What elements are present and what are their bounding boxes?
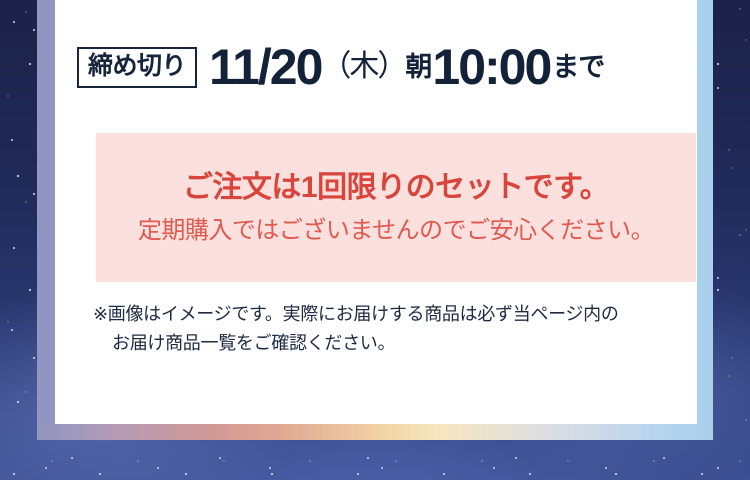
content-card: 締め切り 11/20 （木） 朝 10:00 まで ご注文は1回限りのセットです… [55, 0, 697, 424]
card-bottom-gradient-border [37, 424, 713, 440]
deadline-morning-label: 朝 [405, 54, 431, 81]
notice-subtext: 定期購入ではございませんのでご安心ください。 [138, 219, 654, 243]
deadline-date: 11/20 [209, 42, 321, 92]
promo-banner: 締め切り 11/20 （木） 朝 10:00 まで ご注文は1回限りのセットです… [0, 0, 750, 480]
deadline-tag-label: 締め切り [77, 47, 197, 88]
card-left-accent-border [37, 0, 55, 440]
image-disclaimer-note: ※画像はイメージです。実際にお届けする商品は必ず当ページ内の お届け商品一覧をご… [93, 300, 703, 358]
content-card-wrapper: 締め切り 11/20 （木） 朝 10:00 まで ご注文は1回限りのセットです… [37, 0, 713, 440]
card-right-accent-border [697, 0, 713, 440]
deadline-time: 10:00 [432, 42, 550, 92]
deadline-weekday: （木） [321, 52, 405, 82]
disclaimer-line-1: ※画像はイメージです。実際にお届けする商品は必ず当ページ内の [93, 300, 703, 329]
disclaimer-line-2: お届け商品一覧をご確認ください。 [93, 329, 703, 358]
one-time-order-notice-box: ご注文は1回限りのセットです。 定期購入ではございませんのでご安心ください。 [96, 133, 696, 282]
deadline-headline: 締め切り 11/20 （木） 朝 10:00 まで [77, 42, 677, 92]
deadline-until-label: まで [552, 54, 604, 81]
notice-headline: ご注文は1回限りのセットです。 [183, 173, 609, 203]
